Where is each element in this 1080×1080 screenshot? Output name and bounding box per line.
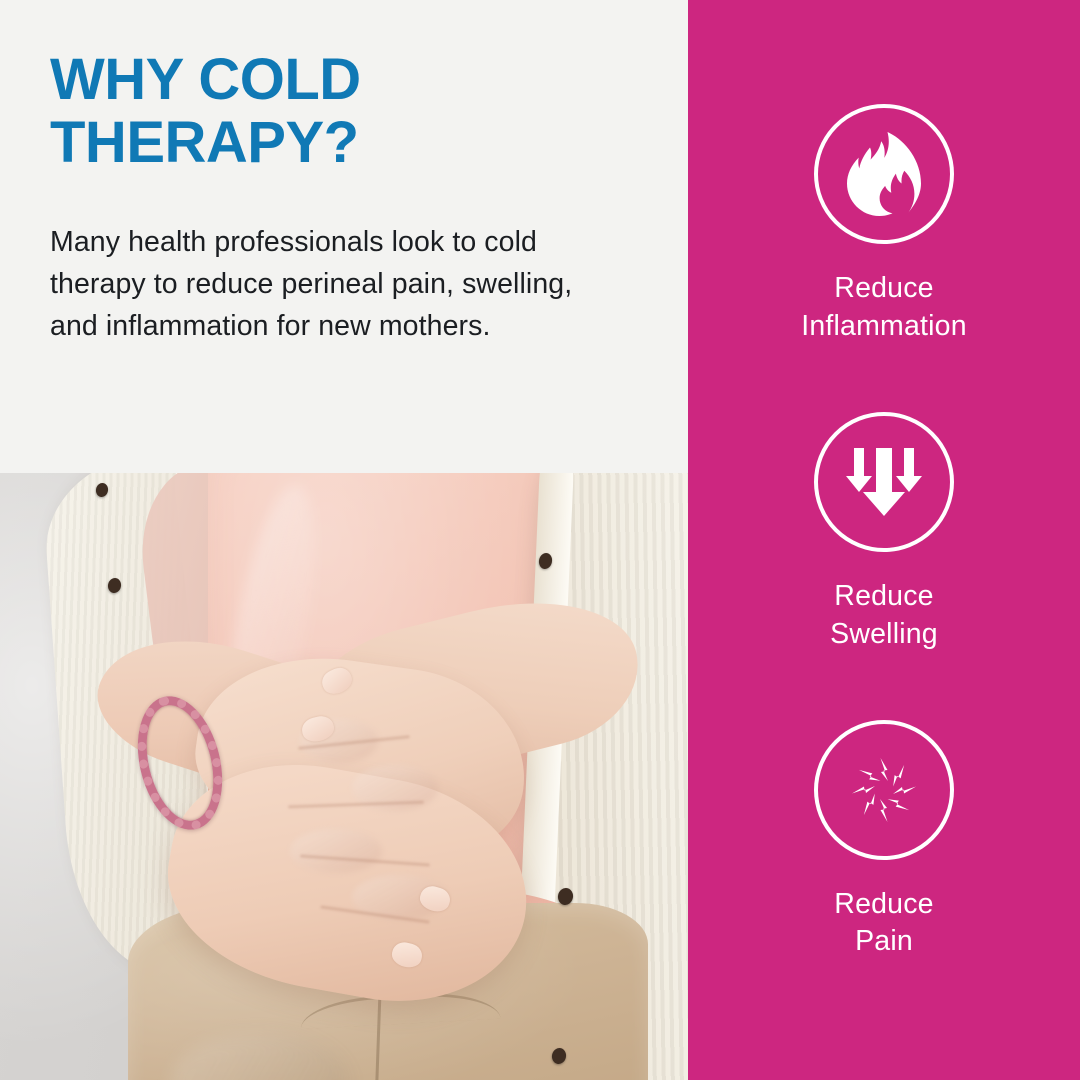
photo-inner xyxy=(0,473,688,1080)
promo-graphic: Why Cold Therapy? Many health profession… xyxy=(0,0,1080,1080)
benefit-item-inflammation: Reduce Inflammation xyxy=(688,104,1080,346)
text-block: Why Cold Therapy? Many health profession… xyxy=(0,0,688,473)
benefit-item-swelling: Reduce Swelling xyxy=(688,412,1080,654)
flame-icon xyxy=(814,104,954,244)
benefits-panel: Reduce Inflammation Reduce Swelling xyxy=(688,0,1080,1080)
left-column: Why Cold Therapy? Many health profession… xyxy=(0,0,688,1080)
benefit-label: Reduce Inflammation xyxy=(801,270,967,346)
benefit-label: Reduce Pain xyxy=(834,886,933,962)
page-title: Why Cold Therapy? xyxy=(50,48,590,174)
lifestyle-photo xyxy=(0,473,688,1080)
down-arrows-icon xyxy=(814,412,954,552)
benefit-item-pain: Reduce Pain xyxy=(688,720,1080,962)
pain-burst-icon xyxy=(814,720,954,860)
knuckle xyxy=(290,829,382,873)
benefit-label: Reduce Swelling xyxy=(830,578,938,654)
body-paragraph: Many health professionals look to cold t… xyxy=(50,222,628,347)
